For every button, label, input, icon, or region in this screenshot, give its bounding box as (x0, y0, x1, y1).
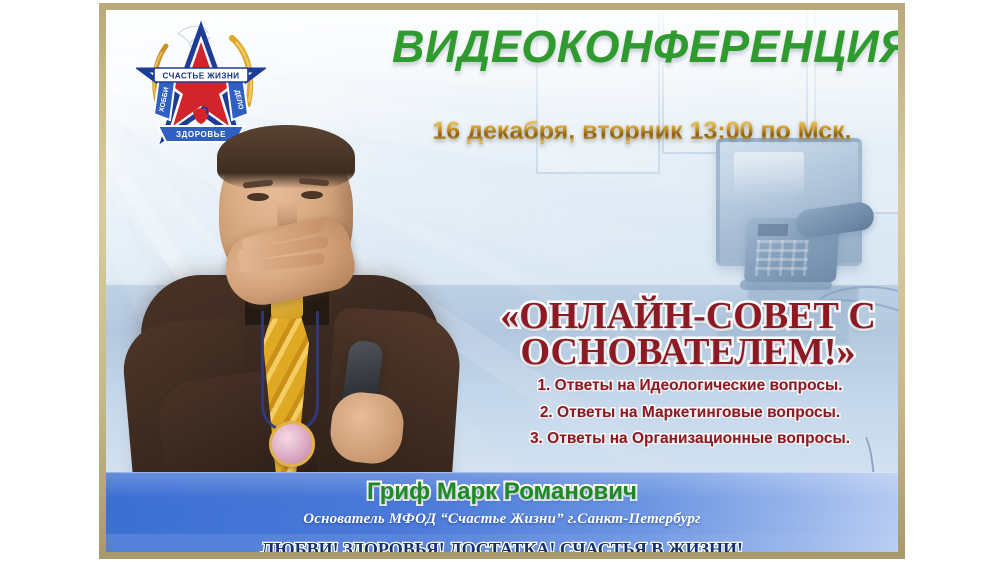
speaker-medallion (269, 421, 315, 467)
speaker-hair (217, 125, 355, 189)
speaker-medal-ribbon (261, 311, 319, 432)
speaker-name: Гриф Марк Романович (106, 478, 898, 506)
agenda-item: 1. Ответы на Идеологические вопросы. (478, 378, 898, 394)
speaker-role: Основатель МФОД “Счастье Жизни” г.Санкт-… (106, 511, 898, 528)
event-date-time: 16 декабря, вторник 13:00 по Мск. (392, 117, 892, 146)
agenda-item: 3. Ответы на Организационные вопросы. (478, 431, 898, 447)
speaker-photo (141, 125, 441, 485)
speaker-eye-right (301, 191, 323, 199)
agenda-item: 2. Ответы на Маркетинговые вопросы. (478, 405, 898, 421)
phone-display (758, 224, 789, 236)
emblem-center-label: СЧАСТЬЕ ЖИЗНИ (163, 72, 240, 81)
phone-keypad (755, 240, 810, 276)
bowl-of-hygieia-icon (193, 108, 209, 124)
poster-content: ХОББИ ДЕЛО СЧАСТЬЕ ЖИЗНИ (106, 10, 898, 552)
wishes-text: ЛЮБВИ! ЗДОРОВЬЯ! ДОСТАТКА! СЧАСТЬЯ В ЖИЗ… (106, 539, 898, 552)
poster-gold-frame: ХОББИ ДЕЛО СЧАСТЬЕ ЖИЗНИ (99, 3, 905, 559)
center-banner: СЧАСТЬЕ ЖИЗНИ (154, 68, 248, 82)
agenda-list: 1. Ответы на Идеологические вопросы. 2. … (478, 378, 898, 458)
poster-canvas: ХОББИ ДЕЛО СЧАСТЬЕ ЖИЗНИ (0, 0, 1000, 562)
poster-title: ВИДЕОКОНФЕРЕНЦИЯ (392, 24, 892, 69)
event-headline: «ОНЛАЙН-СОВЕТ С ОСНОВАТЕЛЕМ!» (476, 298, 898, 371)
speaker-eye-left (247, 193, 269, 201)
